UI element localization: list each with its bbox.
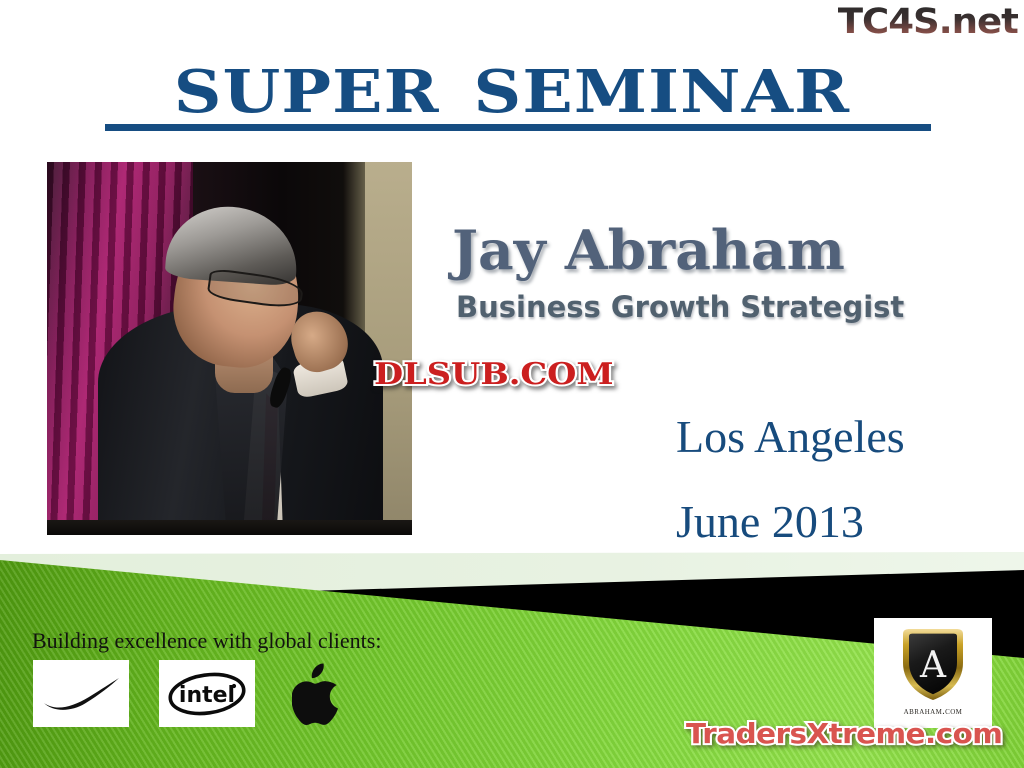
speaker-role: Business Growth Strategist [456, 291, 904, 323]
nike-logo [33, 660, 129, 727]
tradersxtreme-watermark: TradersXtreme.com [686, 718, 1002, 750]
tc4s-watermark: TC4S.net [838, 2, 1018, 42]
photo-floor-band [47, 520, 412, 535]
title-underline-rule [105, 124, 931, 131]
nike-swoosh-icon [41, 677, 121, 711]
speaker-name: Jay Abraham [452, 222, 845, 278]
svg-text:intel: intel [179, 683, 235, 708]
presentation-slide: TC4S.net Super Seminar Jay Abraham Busin… [0, 0, 1024, 768]
apple-icon [292, 663, 346, 725]
clients-label: Building excellence with global clients: [32, 628, 381, 654]
shield-icon: A [897, 625, 969, 703]
intel-logo: intel [159, 660, 255, 727]
title-container: Super Seminar [0, 42, 1024, 124]
abraham-brand-logo: A Abraham.com [874, 618, 992, 728]
speaker-photo [47, 162, 412, 535]
event-city: Los Angeles [676, 412, 905, 462]
svg-text:A: A [919, 645, 947, 686]
dlsub-watermark: DLSUB.COM [374, 358, 614, 392]
apple-logo [288, 662, 350, 726]
page-title: Super Seminar [174, 42, 850, 124]
abraham-logo-caption: Abraham.com [904, 706, 963, 717]
intel-wordmark-icon: intel [165, 669, 249, 719]
